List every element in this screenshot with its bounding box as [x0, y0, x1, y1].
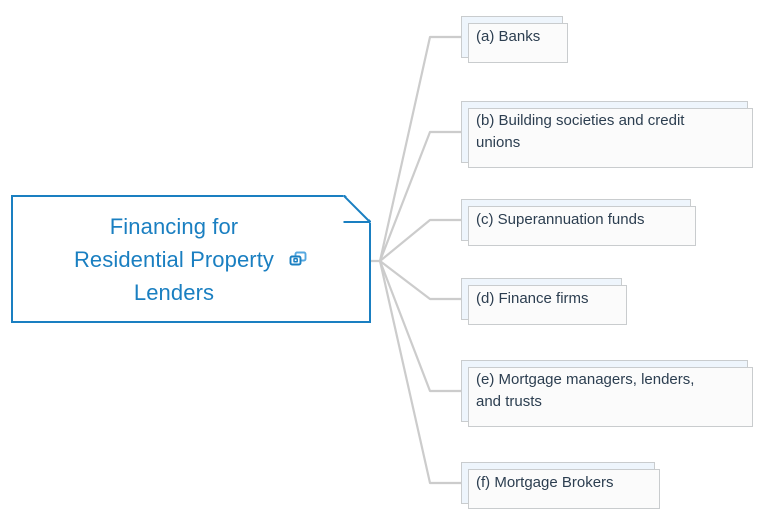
connector-c — [380, 220, 461, 261]
child-node-f[interactable]: (f) Mortgage Brokers — [461, 462, 655, 504]
child-node-e[interactable]: (e) Mortgage managers, lenders, and trus… — [461, 360, 748, 422]
child-label-b: (b) Building societies and credit unions — [462, 110, 698, 154]
connector-a — [380, 37, 461, 261]
mindmap-canvas: Financing for Residential Property Lende… — [0, 0, 768, 520]
child-label-e: (e) Mortgage managers, lenders, and trus… — [462, 369, 708, 413]
child-label-a: (a) Banks — [462, 26, 554, 48]
root-fold-icon — [343, 195, 371, 223]
root-content: Financing for Residential Property Lende… — [58, 210, 324, 309]
connector-f — [380, 261, 461, 483]
child-node-d[interactable]: (d) Finance firms — [461, 278, 622, 320]
connector-b — [380, 132, 461, 261]
connector-d — [380, 261, 461, 299]
root-node[interactable]: Financing for Residential Property Lende… — [11, 195, 371, 323]
child-label-d: (d) Finance firms — [462, 288, 603, 310]
child-node-a[interactable]: (a) Banks — [461, 16, 563, 58]
child-node-b[interactable]: (b) Building societies and credit unions — [461, 101, 748, 163]
copy-icon[interactable] — [288, 250, 308, 270]
root-title: Financing for Residential Property Lende… — [74, 210, 274, 309]
child-node-c[interactable]: (c) Superannuation funds — [461, 199, 691, 241]
child-label-c: (c) Superannuation funds — [462, 209, 658, 231]
connector-e — [380, 261, 461, 391]
child-label-f: (f) Mortgage Brokers — [462, 472, 628, 494]
